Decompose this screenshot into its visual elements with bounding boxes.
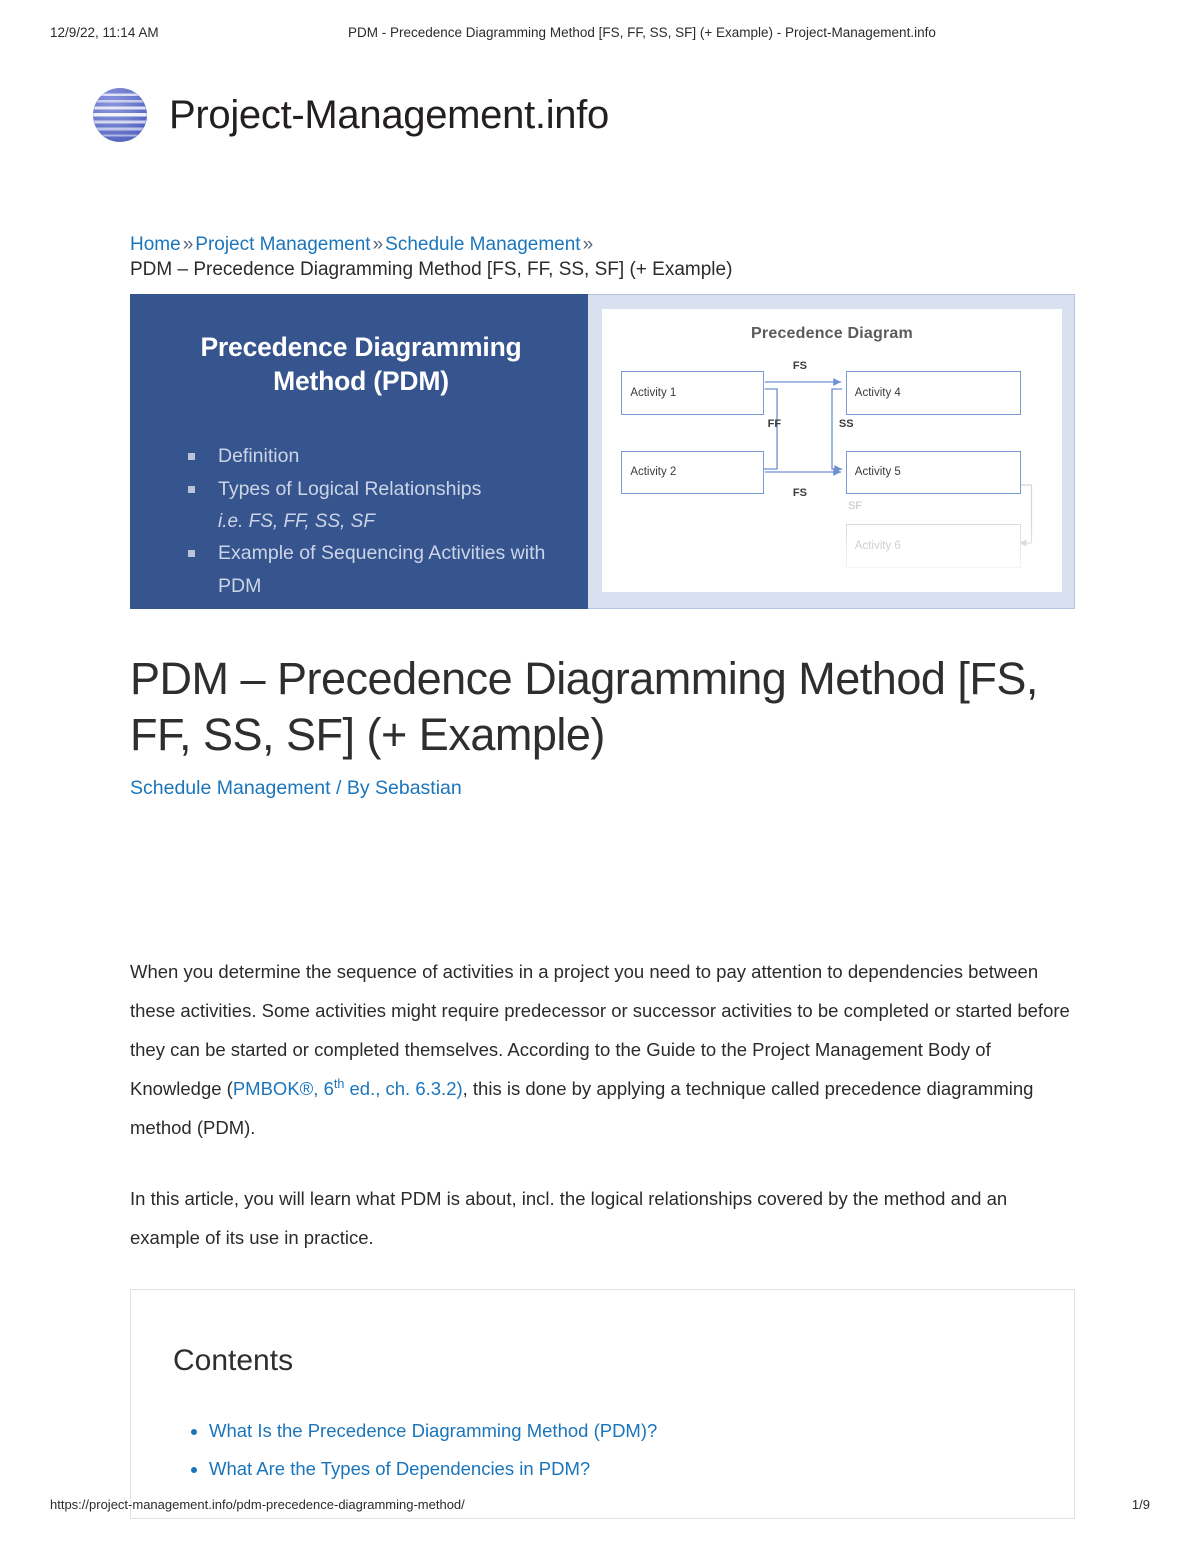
edge-label-fs-1-4: FS [793,360,807,372]
breadcrumb-item-current: PDM – Precedence Diagramming Method [FS,… [130,259,732,280]
featured-image-left-panel: Precedence Diagramming Method (PDM) Defi… [130,294,588,609]
diagram-node-activity-4: Activity 4 [846,371,1021,415]
pmbok-link[interactable]: PMBOK®, 6th ed., ch. 6.3.2) [233,1078,463,1099]
diagram-node-activity-6: Activity 6 [846,524,1021,568]
breadcrumb-item-schedule-management[interactable]: Schedule Management [385,234,580,255]
node-label: Activity 4 [855,387,901,399]
bullet-subtext: i.e. FS, FF, SS, SF [218,506,562,537]
paragraph-1: When you determine the sequence of activ… [130,952,1075,1147]
contents-list: What Is the Precedence Diagramming Metho… [173,1412,1034,1488]
featured-image-bullet-list: Definition Types of Logical Relationship… [160,440,562,603]
list-item: Example of Sequencing Activities with PD… [188,537,562,603]
list-item[interactable]: What Is the Precedence Diagramming Metho… [209,1412,1034,1450]
breadcrumb-separator: » [181,234,196,255]
article-body: When you determine the sequence of activ… [130,952,1075,1257]
main-content: Home»Project Management»Schedule Managem… [130,232,1075,1519]
breadcrumb-item-home[interactable]: Home [130,234,181,255]
node-label: Activity 2 [630,466,676,478]
diagram-node-activity-5: Activity 5 [846,451,1021,495]
byline-separator: / [331,777,347,799]
node-label: Activity 1 [630,387,676,399]
contents-box: Contents What Is the Precedence Diagramm… [130,1289,1075,1519]
pmbok-ordinal-suffix: th [334,1077,345,1091]
featured-image-heading: Precedence Diagramming Method (PDM) [160,330,562,398]
print-header: 12/9/22, 11:14 AM PDM - Precedence Diagr… [0,25,1200,45]
pmbok-link-text-b: ed., ch. 6.3.2) [344,1078,462,1099]
edge-label-ff-1-2: FF [768,418,781,430]
breadcrumb-separator: » [371,234,386,255]
page-title: PDM – Precedence Diagramming Method [FS,… [130,651,1075,763]
precedence-diagram: Precedence Diagram [602,309,1062,592]
site-logo[interactable]: Project-Management.info [93,88,609,142]
author-prefix: By [347,777,375,799]
diagram-node-activity-1: Activity 1 [621,371,764,415]
pmbok-link-text: PMBOK®, 6 [233,1078,334,1099]
breadcrumb: Home»Project Management»Schedule Managem… [130,232,1075,282]
print-header-date: 12/9/22, 11:14 AM [50,25,159,40]
contents-title: Contents [173,1344,1034,1378]
featured-image-right-panel: Precedence Diagram [588,294,1075,609]
globe-icon [93,88,147,142]
bullet-label: Definition [218,445,299,467]
edge-label-fs-2-5: FS [793,487,807,499]
breadcrumb-item-project-management[interactable]: Project Management [195,234,370,255]
contents-link-1[interactable]: What Is the Precedence Diagramming Metho… [209,1420,657,1441]
post-meta: Schedule Management / By Sebastian [130,777,1075,800]
list-item[interactable]: What Are the Types of Dependencies in PD… [209,1450,1034,1488]
print-footer-url: https://project-management.info/pdm-prec… [50,1497,465,1512]
print-header-title: PDM - Precedence Diagramming Method [FS,… [348,25,936,40]
print-footer: https://project-management.info/pdm-prec… [0,1497,1200,1515]
breadcrumb-separator: » [581,234,596,255]
bullet-label: Types of Logical Relationships [218,478,481,500]
list-item: Definition [188,440,562,473]
edge-label-sf-5-6: SF [848,500,862,512]
node-label: Activity 5 [855,466,901,478]
post-author-link[interactable]: Sebastian [375,777,462,799]
node-label: Activity 6 [855,540,901,552]
contents-link-2[interactable]: What Are the Types of Dependencies in PD… [209,1458,590,1479]
featured-image: Precedence Diagramming Method (PDM) Defi… [130,294,1075,609]
diagram-node-activity-2: Activity 2 [621,451,764,495]
post-category-link[interactable]: Schedule Management [130,777,331,799]
bullet-label: Example of Sequencing Activities with PD… [218,542,545,597]
edge-label-ss-4-5: SS [839,418,854,430]
print-footer-page-number: 1/9 [1132,1497,1150,1512]
list-item: Types of Logical Relationshipsi.e. FS, F… [188,473,562,537]
site-name: Project-Management.info [169,93,609,138]
paragraph-2: In this article, you will learn what PDM… [130,1179,1075,1257]
